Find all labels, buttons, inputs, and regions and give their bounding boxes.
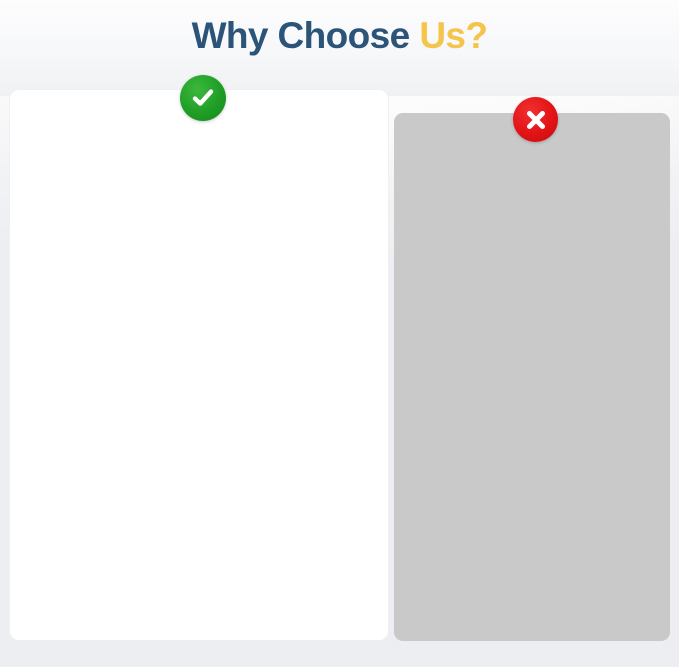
- good-column-panel: [10, 90, 388, 640]
- check-circle-icon: [180, 75, 226, 121]
- page-title: Why Choose Us?: [0, 14, 679, 58]
- page-title-accent: Us?: [419, 15, 487, 56]
- bad-column-panel: [394, 113, 670, 641]
- x-circle-icon: [513, 97, 558, 142]
- page-title-main: Why Choose: [192, 15, 420, 56]
- why-choose-us-comparison-infographic: Why Choose Us? 260G Deluxe Olefin Precis…: [0, 0, 679, 667]
